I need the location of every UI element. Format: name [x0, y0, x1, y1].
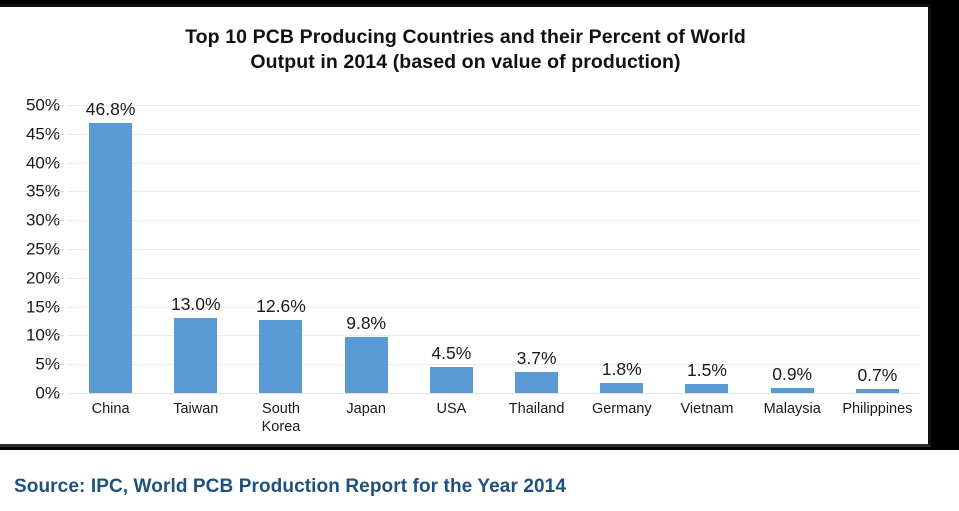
x-axis-label: Taiwan — [153, 400, 238, 418]
x-axis-label-line: China — [68, 400, 153, 418]
x-axis-labels: ChinaTaiwanSouthKoreaJapanUSAThailandGer… — [68, 400, 920, 448]
x-axis-label-line: Germany — [579, 400, 664, 418]
bar[interactable] — [89, 123, 132, 393]
gridline — [68, 134, 920, 135]
x-axis-label-line: Thailand — [494, 400, 579, 418]
y-axis-label: 10% — [8, 327, 60, 344]
bar-value-label: 1.5% — [664, 360, 749, 381]
gridline — [68, 393, 920, 394]
x-axis-label: Vietnam — [664, 400, 749, 418]
x-axis-label-line: Malaysia — [750, 400, 835, 418]
y-axis-label: 50% — [8, 97, 60, 114]
bar[interactable] — [259, 320, 302, 393]
y-axis-tick — [56, 278, 64, 279]
y-axis-label: 5% — [8, 356, 60, 373]
y-axis-tick — [56, 105, 64, 106]
gridline — [68, 191, 920, 192]
plot-area: 46.8%13.0%12.6%9.8%4.5%3.7%1.8%1.5%0.9%0… — [68, 97, 920, 397]
y-axis-tick — [56, 191, 64, 192]
bar-value-label: 13.0% — [153, 294, 238, 315]
y-axis-labels: 0%5%10%15%20%25%30%35%40%45%50% — [0, 97, 60, 397]
bar-value-label: 12.6% — [238, 296, 323, 317]
bar-value-label: 4.5% — [409, 343, 494, 364]
x-axis-label-line: Korea — [238, 418, 323, 436]
bar[interactable] — [685, 384, 728, 393]
y-axis-label: 45% — [8, 125, 60, 142]
x-axis-label: China — [68, 400, 153, 418]
bar[interactable] — [345, 337, 388, 393]
x-axis-label-line: Japan — [324, 400, 409, 418]
y-axis-label: 30% — [8, 212, 60, 229]
y-axis-tick — [56, 393, 64, 394]
x-axis-label-line: Vietnam — [664, 400, 749, 418]
bar[interactable] — [771, 388, 814, 393]
bar[interactable] — [174, 318, 217, 393]
chart-title-line-2: Output in 2014 (based on value of produc… — [0, 50, 931, 75]
y-axis-tick — [56, 163, 64, 164]
y-axis-label: 20% — [8, 269, 60, 286]
bar[interactable] — [430, 367, 473, 393]
x-axis-label: Thailand — [494, 400, 579, 418]
y-axis-label: 25% — [8, 241, 60, 258]
source-note: Source: IPC, World PCB Production Report… — [14, 476, 566, 498]
bar-value-label: 0.7% — [835, 365, 920, 386]
y-axis-tick — [56, 220, 64, 221]
chart-panel: Top 10 PCB Producing Countries and their… — [0, 4, 931, 447]
bar-value-label: 3.7% — [494, 348, 579, 369]
slide-canvas: Top 10 PCB Producing Countries and their… — [0, 0, 959, 511]
footer-band: Source: IPC, World PCB Production Report… — [0, 450, 959, 511]
y-axis-tick — [56, 335, 64, 336]
y-axis-tick — [56, 249, 64, 250]
y-axis-label: 0% — [8, 385, 60, 402]
y-axis-tick — [56, 307, 64, 308]
y-axis-tick — [56, 364, 64, 365]
gridline — [68, 220, 920, 221]
x-axis-label-line: Taiwan — [153, 400, 238, 418]
x-axis-label-line: USA — [409, 400, 494, 418]
gridline — [68, 105, 920, 106]
y-axis-label: 15% — [8, 298, 60, 315]
bar[interactable] — [515, 372, 558, 393]
bar[interactable] — [600, 383, 643, 393]
gridline — [68, 278, 920, 279]
x-axis-label: Germany — [579, 400, 664, 418]
chart-title: Top 10 PCB Producing Countries and their… — [0, 25, 931, 75]
x-axis-label: Philippines — [835, 400, 920, 418]
y-axis-label: 40% — [8, 154, 60, 171]
y-axis-tick — [56, 134, 64, 135]
gridline — [68, 249, 920, 250]
x-axis-label-line: South — [238, 400, 323, 418]
gridline — [68, 163, 920, 164]
bar-value-label: 46.8% — [68, 99, 153, 120]
bar[interactable] — [856, 389, 899, 393]
bar-value-label: 9.8% — [324, 313, 409, 334]
x-axis-label: SouthKorea — [238, 400, 323, 436]
x-axis-label: USA — [409, 400, 494, 418]
x-axis-label: Malaysia — [750, 400, 835, 418]
chart-title-line-1: Top 10 PCB Producing Countries and their… — [0, 25, 931, 50]
y-axis-label: 35% — [8, 183, 60, 200]
x-axis-label-line: Philippines — [835, 400, 920, 418]
bar-value-label: 1.8% — [579, 359, 664, 380]
x-axis-label: Japan — [324, 400, 409, 418]
bar-value-label: 0.9% — [750, 364, 835, 385]
